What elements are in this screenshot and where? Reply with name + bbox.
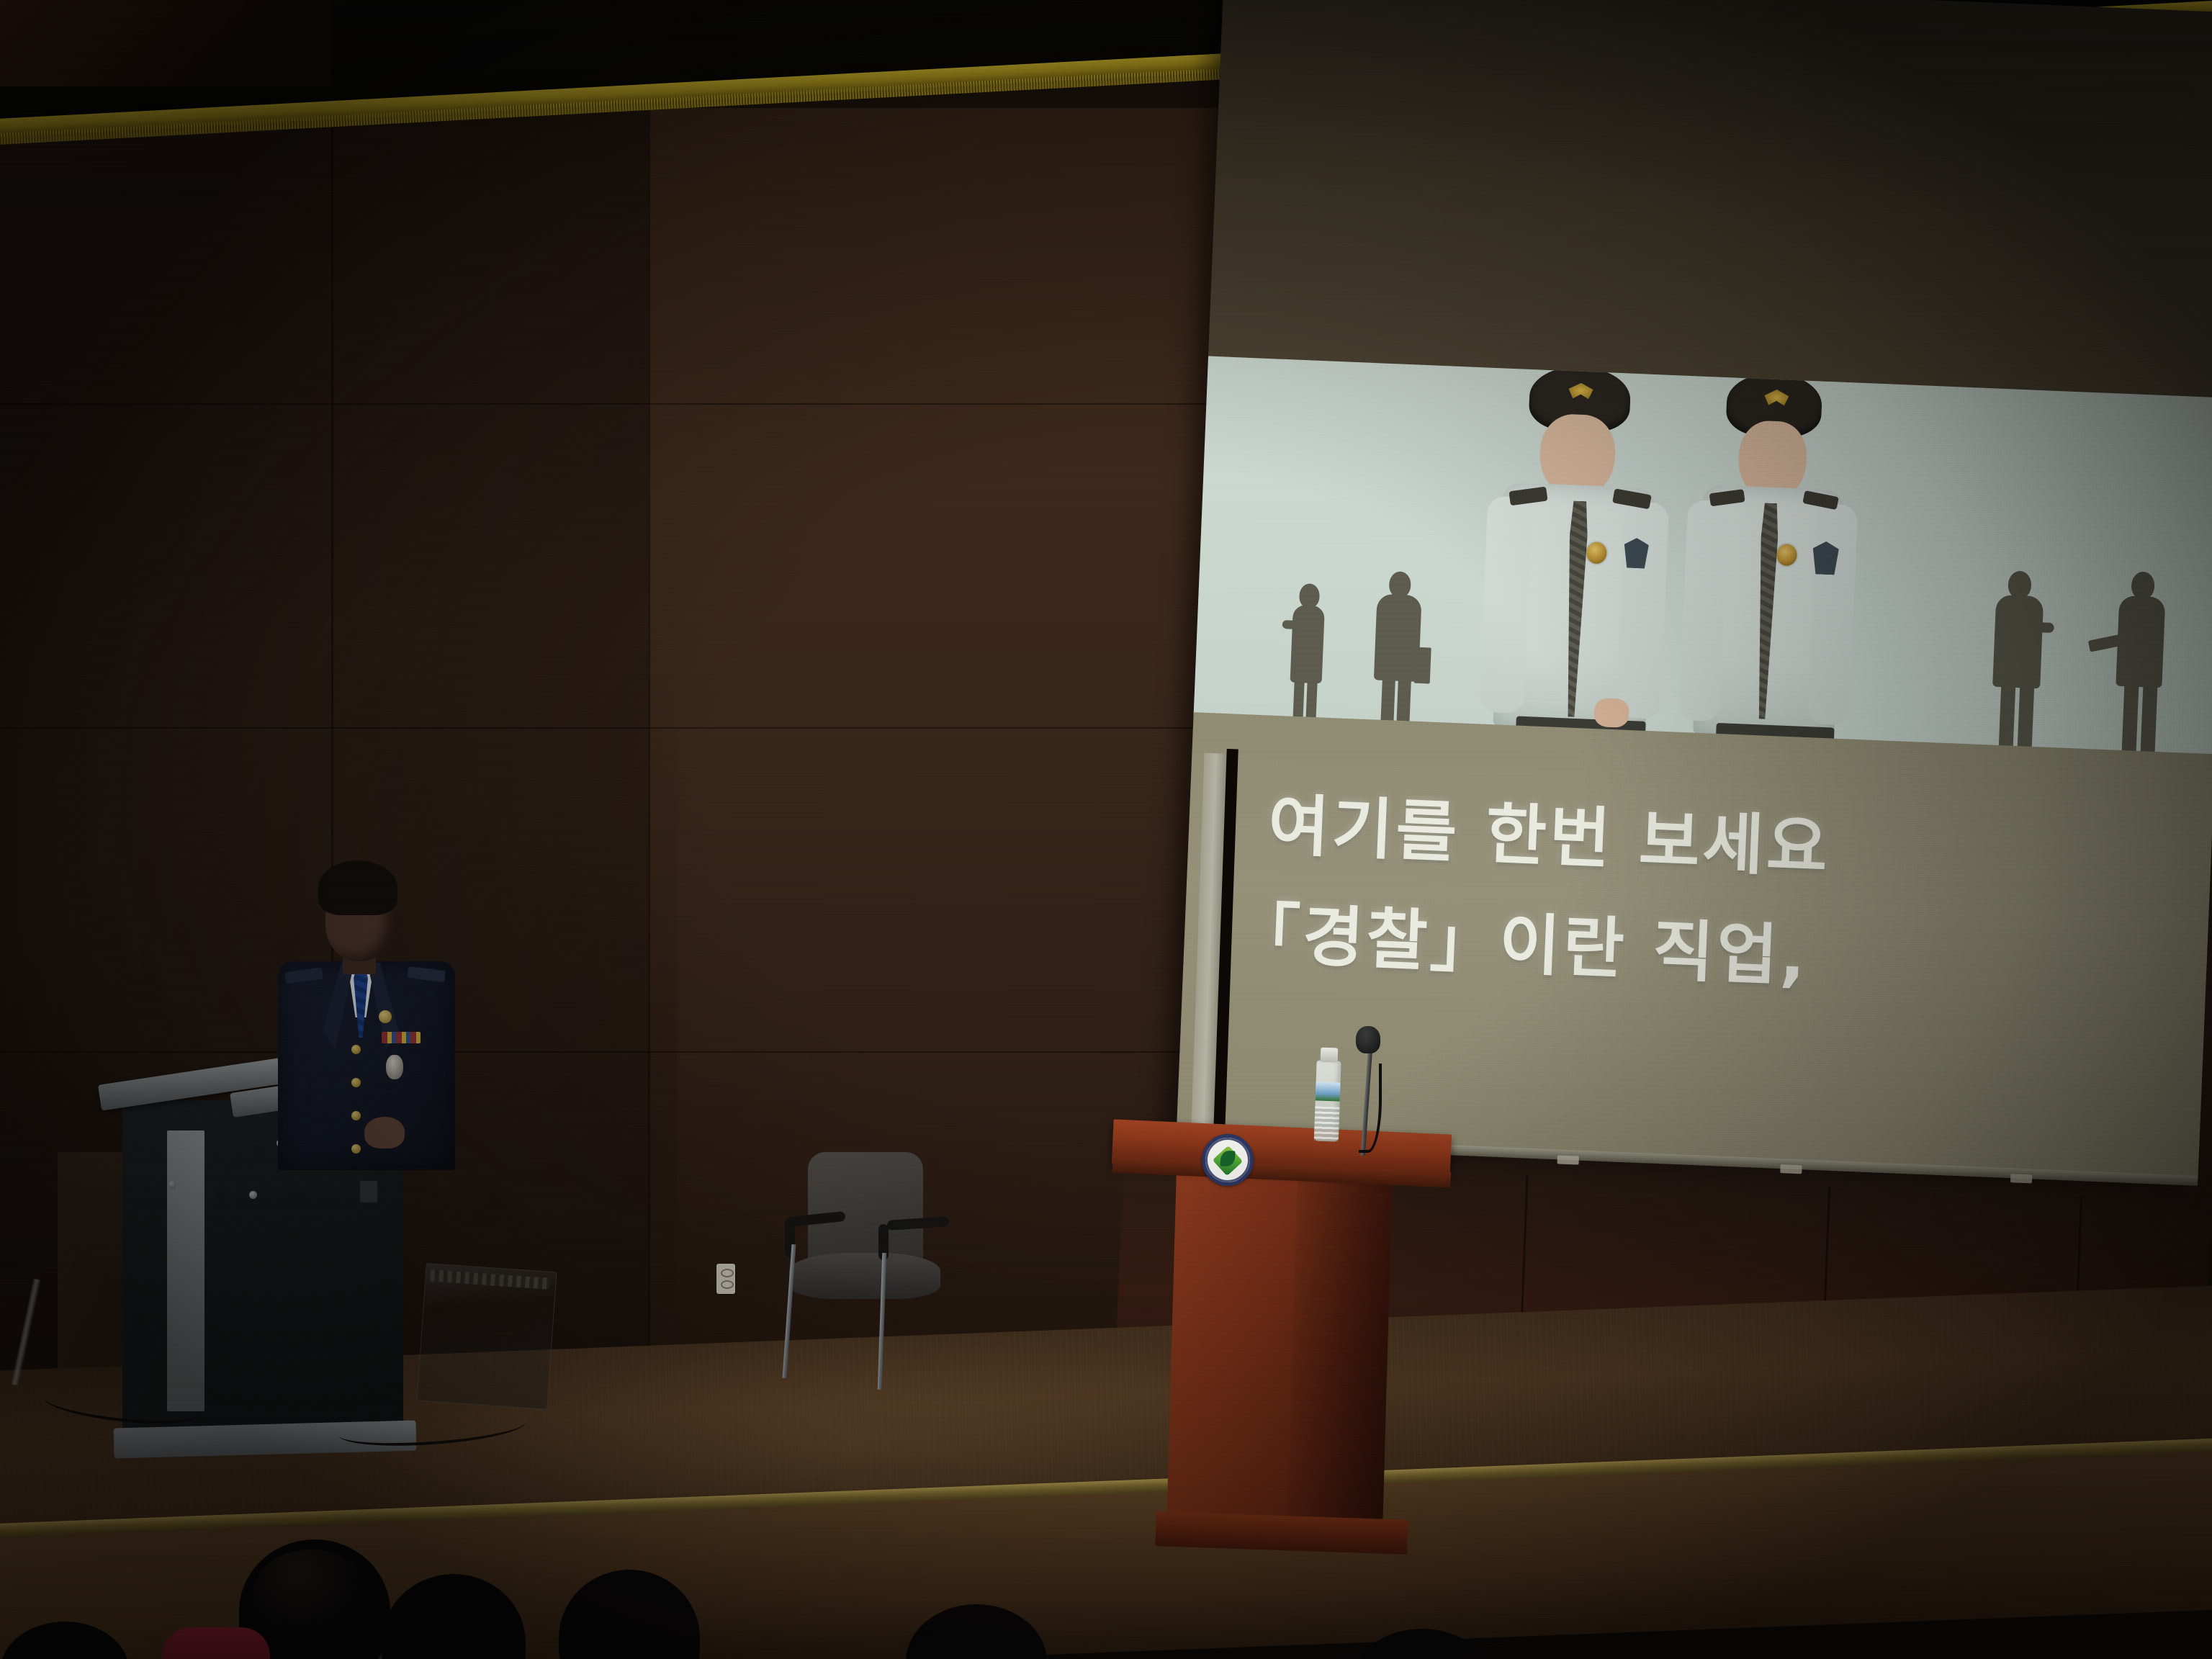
speaker-jacket-button (351, 1078, 361, 1087)
officer-left-arm (1479, 496, 1532, 714)
wall-seam (0, 1051, 1224, 1053)
bottle-cap (1321, 1048, 1339, 1063)
speaker-service-ribbons (382, 1032, 421, 1043)
visitor-chair[interactable] (763, 1152, 972, 1411)
heater-vent (430, 1269, 550, 1290)
emblem-lectern (1112, 1127, 1451, 1602)
bottle-ribs (1314, 1106, 1340, 1141)
screen-hem-tab (1557, 1155, 1578, 1164)
gooseneck-microphone[interactable] (1343, 1026, 1393, 1156)
audience-garment (162, 1627, 270, 1659)
speaker-jacket-button (351, 1045, 361, 1054)
chair-skid-right (850, 1381, 940, 1392)
screen-hem-tab (2010, 1174, 2032, 1183)
wall-seam (0, 403, 1224, 405)
speaker-collar-insignia (379, 1010, 392, 1023)
speaker-police-officer (259, 860, 490, 1163)
wall-seam (0, 727, 1224, 729)
chair-skid-left (781, 1369, 850, 1380)
speaker-hand (364, 1117, 405, 1148)
bottle-label (1316, 1082, 1341, 1101)
officer-right-arm (1807, 503, 1858, 725)
speaker-jacket-button (351, 1111, 361, 1120)
wall-power-outlet (716, 1264, 735, 1294)
speaker-jacket-button (351, 1144, 361, 1154)
slide-caption-line-2: 「경찰」이란 직업, (1232, 880, 1811, 999)
audience-head-highlight (253, 1550, 369, 1636)
slide-photo-area (1194, 356, 2212, 758)
wall-seam (648, 108, 650, 1375)
lectern-fastener (249, 1191, 257, 1199)
lectern-accent-stripe (167, 1130, 204, 1411)
lectern-column-shadow (1287, 1176, 1392, 1524)
speaker-medal (386, 1055, 403, 1079)
auditorium-scene: 여기를 한번 보세요 「경찰」이란 직업, (0, 0, 2212, 1659)
slide-caption-line-1: 여기를 한번 보세요 (1267, 772, 1833, 891)
slide-upper-band (1208, 0, 2212, 402)
lectern-fastener (168, 1181, 176, 1189)
officer-right-arm (1616, 501, 1669, 719)
chair-leg-left (783, 1244, 796, 1378)
chair-seat (789, 1253, 940, 1299)
officer-hand (1593, 698, 1629, 728)
slide-female-officer (1667, 360, 1914, 758)
projection-screen: 여기를 한번 보세요 「경찰」이란 직업, (1177, 0, 2212, 1179)
speaker-hair (318, 860, 397, 915)
microphone-cable (1359, 1064, 1382, 1153)
screen-hem-tab (1780, 1164, 1802, 1174)
wall-heater (417, 1263, 557, 1410)
water-bottle[interactable] (1313, 1047, 1344, 1141)
microphone-head (1356, 1026, 1380, 1053)
lectern-control-panel[interactable] (360, 1181, 377, 1202)
lectern-plinth (1155, 1511, 1408, 1555)
chair-backrest (808, 1152, 923, 1267)
upper-left-wall-corner (0, 0, 331, 86)
